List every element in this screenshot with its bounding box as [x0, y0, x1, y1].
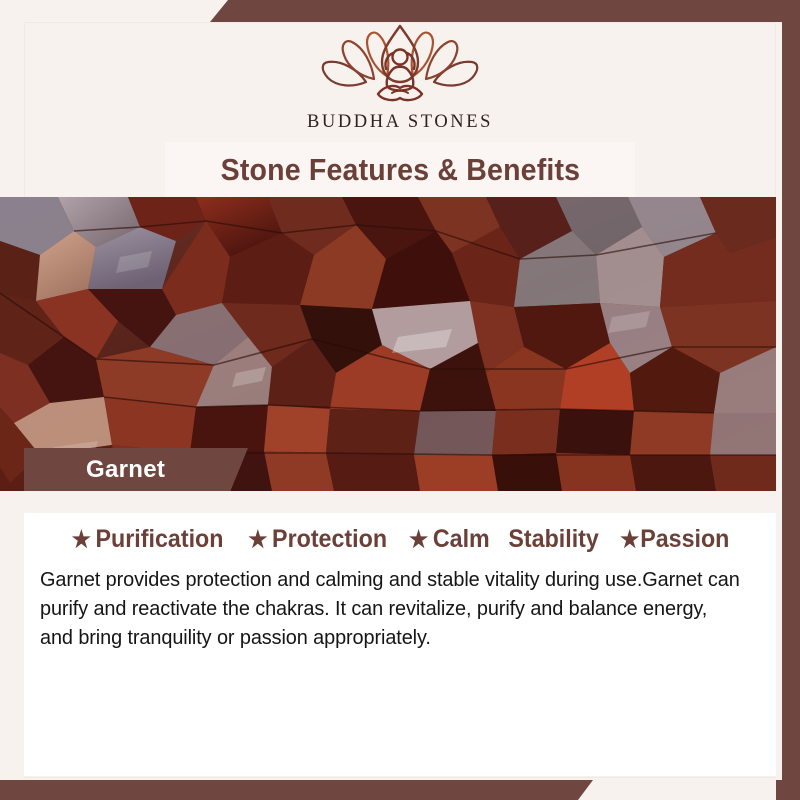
stone-name-banner: Garnet	[24, 448, 248, 492]
feature-label: Purification	[96, 525, 224, 554]
stone-name: Garnet	[86, 456, 165, 484]
cream-divider-strip	[24, 491, 776, 513]
feature-label: Calm	[433, 525, 490, 554]
feature-label: Protection	[272, 525, 387, 554]
lotus-meditation-logo-icon	[314, 22, 486, 108]
feature-stability: Stability	[509, 525, 599, 554]
stone-description: Garnet provides protection and calming a…	[40, 565, 740, 652]
feature-passion: ★Passion	[621, 525, 730, 554]
feature-list: ★Purification★Protection★CalmStability★P…	[24, 525, 776, 554]
feature-purification: ★Purification	[72, 525, 224, 554]
star-icon: ★	[409, 528, 428, 551]
header: BUDDHA STONES	[24, 0, 776, 146]
brand-name: BUDDHA STONES	[307, 112, 493, 133]
star-icon: ★	[621, 528, 640, 551]
feature-calm: ★Calm	[409, 525, 490, 554]
feature-label: Stability	[509, 525, 599, 554]
feature-protection: ★Protection	[248, 525, 387, 554]
feature-label: Passion	[641, 525, 730, 554]
title-banner: Stone Features & Benefits	[165, 142, 635, 197]
content-panel: ★Purification★Protection★CalmStability★P…	[24, 513, 776, 776]
star-icon: ★	[248, 528, 267, 551]
poster: BUDDHA STONES Stone Features & Benefits	[0, 0, 800, 800]
page-title: Stone Features & Benefits	[220, 152, 580, 188]
star-icon: ★	[72, 528, 91, 551]
garnet-crystal-photo	[0, 197, 776, 491]
